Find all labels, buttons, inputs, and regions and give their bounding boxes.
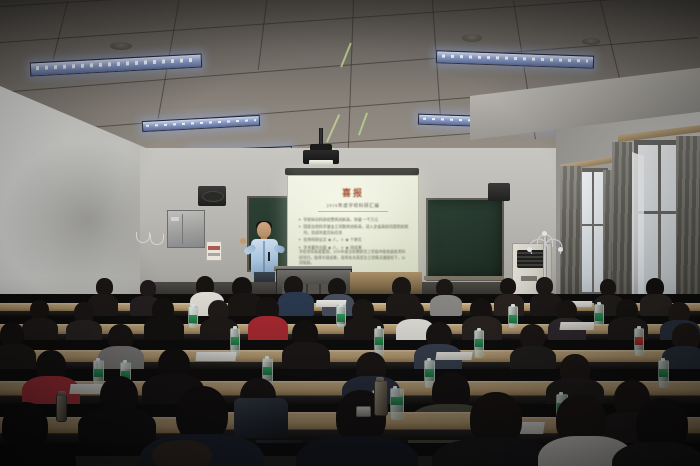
slide-title: 喜报 (288, 186, 418, 199)
bottle-cap (597, 302, 602, 305)
water-bottle[interactable] (390, 388, 404, 420)
bullet-dot-icon: ✦ (298, 218, 301, 223)
slide-subtitle: 2016年度学校科研汇编 (288, 203, 418, 209)
paper-sheet (435, 352, 472, 360)
bullet-dot-icon: ✦ (298, 238, 301, 243)
attendee-head-foreground (152, 440, 212, 466)
ceiling-light-fixture (142, 115, 260, 132)
attendee-body (612, 442, 700, 466)
slide-bullet-item: ✦ 优秀科研论文 ★ 人，＋ ★ 个单位 (298, 238, 410, 243)
projector-lens (309, 160, 333, 165)
lecture-hall-photo: 喜报 2016年度学校科研汇编 ✦ 学校纵向科研经费再创新高，突破 一千万元 ✦… (0, 0, 700, 466)
bottle-label (189, 315, 197, 323)
attendee-body (278, 292, 314, 316)
slide-bullet-text: 国家自然科学基金立项数再创新高，进入全省高校同类院校前列，完成年度目标任务 (303, 225, 410, 236)
slide-bullet-text: 优秀科研论文 ★ 人，＋ ★ 个单位 (303, 238, 361, 243)
bottle-label (595, 313, 603, 321)
ceiling-cable (358, 112, 368, 135)
bullet-dot-icon: ✦ (298, 225, 301, 230)
bottle-label (475, 339, 483, 347)
ceiling-grid-line (53, 1, 68, 59)
water-bottle-red[interactable] (634, 328, 644, 356)
bottle-cap (96, 358, 101, 361)
bottle-label (231, 337, 239, 345)
bottle-cap (191, 304, 196, 307)
attendee-head (500, 278, 516, 295)
slide-bullet-text: 学校纵向科研经费再创新高，突破 一千万元 (303, 218, 378, 223)
ceiling-light-fixture (436, 50, 594, 69)
bottle-cap (393, 386, 398, 389)
water-bottle[interactable] (336, 305, 346, 327)
slide-bullet-list: ✦ 学校纵向科研经费再创新高，突破 一千万元 ✦ 国家自然科学基金立项数再创新高… (298, 218, 410, 253)
water-bottle[interactable] (594, 304, 604, 326)
paper-sheet (195, 352, 236, 361)
ceiling-vent (582, 38, 600, 45)
projection-screen: 喜报 2016年度学校科研汇编 ✦ 学校纵向科研经费再创新高，突破 一千万元 ✦… (287, 175, 419, 274)
thermos-flask[interactable] (374, 380, 388, 416)
bottle-label (659, 369, 668, 377)
slide-bullet-item: ✦ 国家自然科学基金立项数再创新高，进入全省高校同类院校前列，完成年度目标任务 (298, 225, 410, 236)
coat-rack-knob (527, 247, 532, 252)
slide-subtitle-rule (318, 211, 388, 212)
audience-seating (0, 276, 700, 466)
sign-red-band (208, 246, 220, 250)
presenter-left-hand (240, 238, 246, 244)
attendee-head (140, 280, 156, 297)
bottle-cap (123, 360, 128, 363)
bottle-label (375, 337, 383, 345)
bottle-label (391, 397, 403, 405)
attendee-head (30, 300, 49, 320)
bottle-cap (559, 392, 564, 395)
backpack[interactable] (234, 398, 288, 438)
slide-paragraph: 学校领导高度重视，2016年度全校教职员工积极申报各级各类科研项目，取得丰硕成果… (299, 250, 409, 267)
bottle-label (635, 337, 643, 345)
microphone-icon (268, 252, 270, 261)
bottle-cap (511, 304, 516, 307)
window-glass-far (581, 172, 605, 292)
ceiling-grid-line (0, 0, 698, 43)
bottle-cap (477, 328, 482, 331)
bottle-cap (427, 358, 432, 361)
attendee-head (600, 279, 616, 296)
ceiling-vent (462, 34, 482, 42)
bottle-cap (265, 356, 270, 359)
projection-screen-case (285, 168, 419, 175)
attendee-body (430, 295, 462, 316)
water-bottle[interactable] (188, 306, 198, 328)
coat-rack-knob (542, 231, 547, 236)
bottle-label (263, 367, 272, 375)
window-mullion (592, 172, 594, 292)
thermos-lid (58, 391, 66, 396)
ceiling-vent (110, 42, 132, 50)
thermos-flask[interactable] (56, 394, 67, 422)
bottle-cap (339, 303, 344, 306)
bottle-label (337, 314, 345, 322)
bottle-cap (377, 326, 382, 329)
water-bottle[interactable] (658, 360, 669, 388)
bottle-label (509, 315, 517, 323)
bottle-cap (637, 326, 642, 329)
sign-text-band (208, 253, 220, 256)
bottle-cap (661, 358, 666, 361)
wall-notice-sign (206, 241, 222, 261)
electrical-panel-box[interactable] (167, 210, 205, 248)
slide-bullet-item: ✦ 学校纵向科研经费再创新高，突破 一千万元 (298, 218, 410, 223)
wall-speaker-right (488, 183, 510, 201)
ceiling-grid-line (258, 0, 268, 70)
metal-tin[interactable] (356, 406, 371, 417)
attendee-body (296, 436, 418, 466)
bottle-cap (233, 326, 238, 329)
ceiling-light-fixture (30, 54, 202, 77)
thermos-lid (376, 377, 384, 382)
coat-rack-knob (558, 247, 563, 252)
water-bottle[interactable] (508, 306, 518, 328)
chalkboard-right (426, 198, 504, 281)
presenter-shirt-placket (263, 241, 265, 272)
wall-speaker-left (198, 186, 226, 206)
bottle-label (94, 369, 103, 377)
water-bottle[interactable] (474, 330, 484, 358)
paper-sheet (559, 322, 594, 330)
bottle-label (425, 369, 434, 377)
